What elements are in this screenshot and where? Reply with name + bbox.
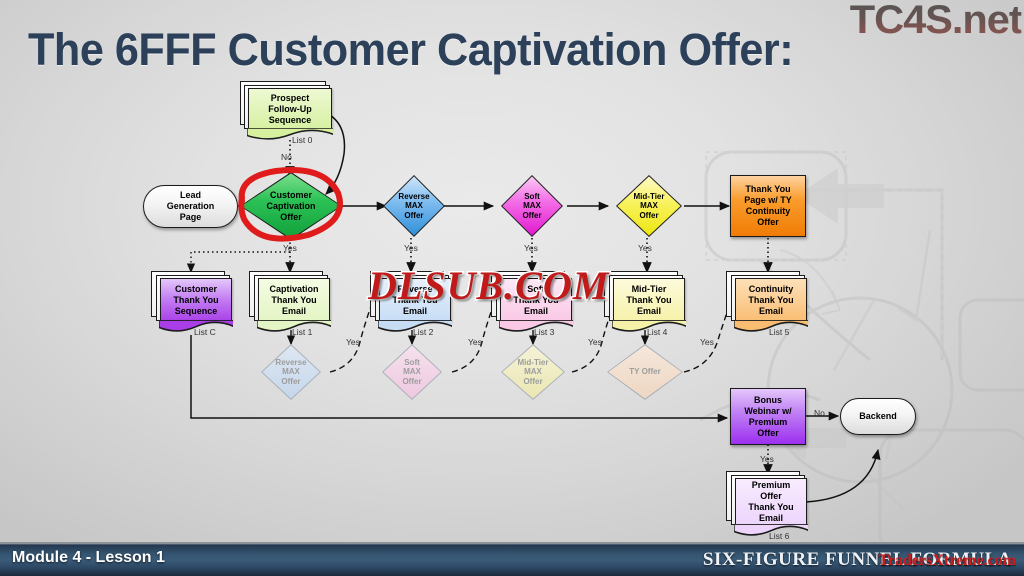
node-premium-offer-thank-you-email[interactable]: Premium Offer Thank You Email List 6	[735, 478, 807, 526]
node-label: Reverse MAX Offer	[383, 175, 445, 237]
node-label: Mid-Tier MAX Offer	[616, 175, 682, 237]
edge-label-yes-ghost-mid: Yes	[588, 337, 602, 347]
list-label: List 2	[413, 327, 433, 337]
node-soft-max-offer[interactable]: Soft MAX Offer	[501, 175, 563, 237]
node-label: Thank You Page w/ TY Continuity Offer	[731, 176, 805, 236]
node-label: Customer Thank You Sequence	[160, 278, 232, 322]
node-label: Bonus Webinar w/ Premium Offer	[731, 389, 805, 444]
node-lead-generation-page[interactable]: Lead Generation Page	[143, 185, 238, 228]
node-label: Soft MAX Offer	[382, 344, 442, 400]
edge-label-yes-ghost-ty: Yes	[700, 337, 714, 347]
node-prospect-follow-up-sequence[interactable]: Prospect Follow-Up Sequence List 0	[248, 88, 332, 130]
node-ghost-ty-offer: TY Offer	[607, 344, 683, 400]
footer-module-lesson: Module 4 - Lesson 1	[12, 549, 165, 567]
node-customer-captivation-offer[interactable]: Customer Captivation Offer	[240, 172, 342, 240]
node-label: Captivation Thank You Email	[258, 278, 330, 322]
list-label: List 3	[534, 327, 554, 337]
node-thank-you-page-continuity-offer[interactable]: Thank You Page w/ TY Continuity Offer	[730, 175, 806, 237]
edge-label-yes-ghost-reverse: Yes	[346, 337, 360, 347]
node-bonus-webinar-premium-offer[interactable]: Bonus Webinar w/ Premium Offer	[730, 388, 806, 445]
slide-canvas: The 6FFF Customer Captivation Offer: TC4…	[0, 0, 1024, 576]
node-label: Reverse MAX Offer	[261, 344, 321, 400]
edge-label-yes-reverse: Yes	[404, 243, 418, 253]
list-label: List 4	[647, 327, 667, 337]
node-label: TY Offer	[607, 344, 683, 400]
node-continuity-thank-you-email[interactable]: Continuity Thank You Email List 5	[735, 278, 807, 322]
watermark-tradersxtreme: TradersXtreme.com	[878, 552, 1016, 570]
edge-label-yes-ghost-soft: Yes	[468, 337, 482, 347]
watermark-dlsub: DLSUB.COM	[368, 262, 609, 309]
node-captivation-thank-you-email[interactable]: Captivation Thank You Email List 1	[258, 278, 330, 322]
edge-label-yes-soft: Yes	[524, 243, 538, 253]
node-label: Mid-Tier MAX Offer	[501, 344, 565, 400]
list-label: List 6	[769, 531, 789, 541]
edge-label-no-prospect: No	[281, 152, 292, 162]
node-label: Prospect Follow-Up Sequence	[248, 88, 332, 130]
list-label: List 0	[292, 135, 312, 145]
node-reverse-max-offer[interactable]: Reverse MAX Offer	[383, 175, 445, 237]
node-mid-tier-max-offer[interactable]: Mid-Tier MAX Offer	[616, 175, 682, 237]
node-ghost-reverse-max-offer: Reverse MAX Offer	[261, 344, 321, 400]
node-label: Lead Generation Page	[144, 186, 237, 227]
node-ghost-mid-tier-max-offer: Mid-Tier MAX Offer	[501, 344, 565, 400]
node-mid-tier-thank-you-email[interactable]: Mid-Tier Thank You Email List 4	[613, 278, 685, 322]
watermark-tc4s: TC4S.net	[849, 0, 1021, 43]
list-label: List 1	[292, 327, 312, 337]
page-title: The 6FFF Customer Captivation Offer:	[28, 24, 793, 76]
list-label: List 5	[769, 327, 789, 337]
node-label: Premium Offer Thank You Email	[735, 478, 807, 526]
node-label: Backend	[841, 399, 915, 434]
node-customer-thank-you-sequence[interactable]: Customer Thank You Sequence List C	[160, 278, 232, 322]
footer-bar: Module 4 - Lesson 1 SIX-FIGURE FUNNEL FO…	[0, 542, 1024, 576]
edge-label-yes-midtier: Yes	[638, 243, 652, 253]
edge-label-yes-bonus: Yes	[760, 454, 774, 464]
node-label: Continuity Thank You Email	[735, 278, 807, 322]
node-label: Customer Captivation Offer	[240, 172, 342, 240]
node-ghost-soft-max-offer: Soft MAX Offer	[382, 344, 442, 400]
list-label: List C	[194, 327, 216, 337]
node-label: Soft MAX Offer	[501, 175, 563, 237]
node-label: Mid-Tier Thank You Email	[613, 278, 685, 322]
edge-label-no-bonus: No	[814, 408, 825, 418]
node-backend[interactable]: Backend	[840, 398, 916, 435]
edge-label-yes-cco: Yes	[283, 243, 297, 253]
